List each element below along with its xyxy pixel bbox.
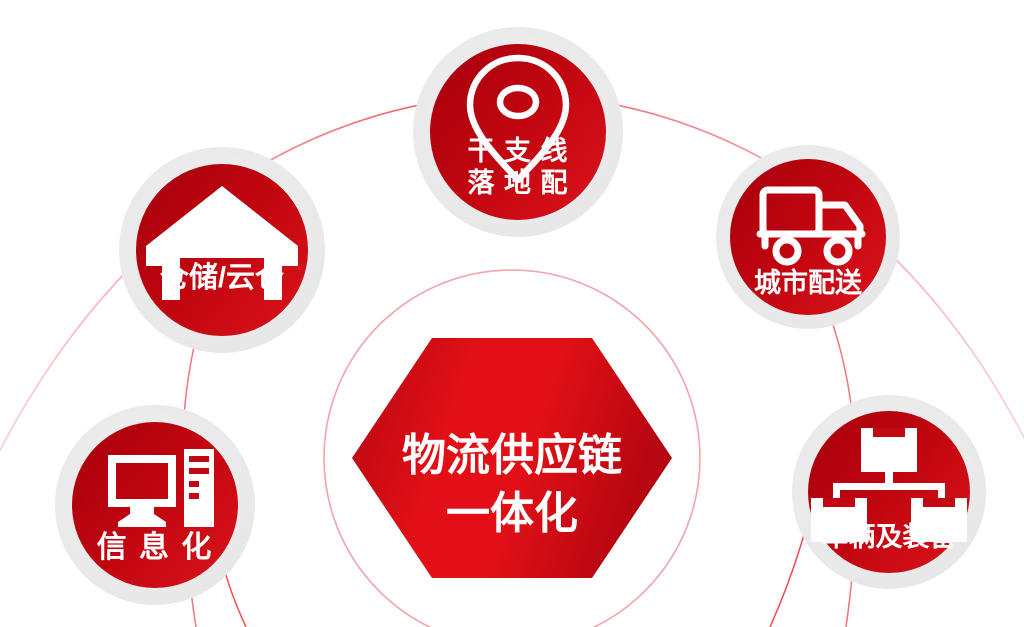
node-warehouse[interactable]: 仓储/云仓 [119,147,325,353]
node-vehicles-equipment[interactable]: 车辆及装备 [792,395,986,589]
node-label-line1: 车辆及装备 [822,521,958,552]
node-label-line2: 落 地 配 [467,168,568,198]
hexagon-title-line2: 一体化 [446,489,578,538]
node-trunk-line[interactable]: 干 支 线 落 地 配 [413,27,623,237]
hexagon-title-line1: 物流供应链 [402,431,622,480]
nodes-layer: 干 支 线 落 地 配 仓储/云仓 城市配送 [0,0,1024,627]
node-label-line1: 干 支 线 [467,136,568,166]
node-label-line1: 城市配送 [754,267,862,298]
node-label-line1: 仓储/云仓 [159,261,285,294]
node-city-delivery[interactable]: 城市配送 [716,145,900,329]
node-label-line1: 信 息 化 [97,530,214,564]
node-informatization[interactable]: 信 息 化 [55,405,255,605]
infographic-canvas: 干 支 线 落 地 配 仓储/云仓 城市配送 [0,0,1024,627]
center-hexagon[interactable]: 物流供应链 一体化 [352,338,672,578]
